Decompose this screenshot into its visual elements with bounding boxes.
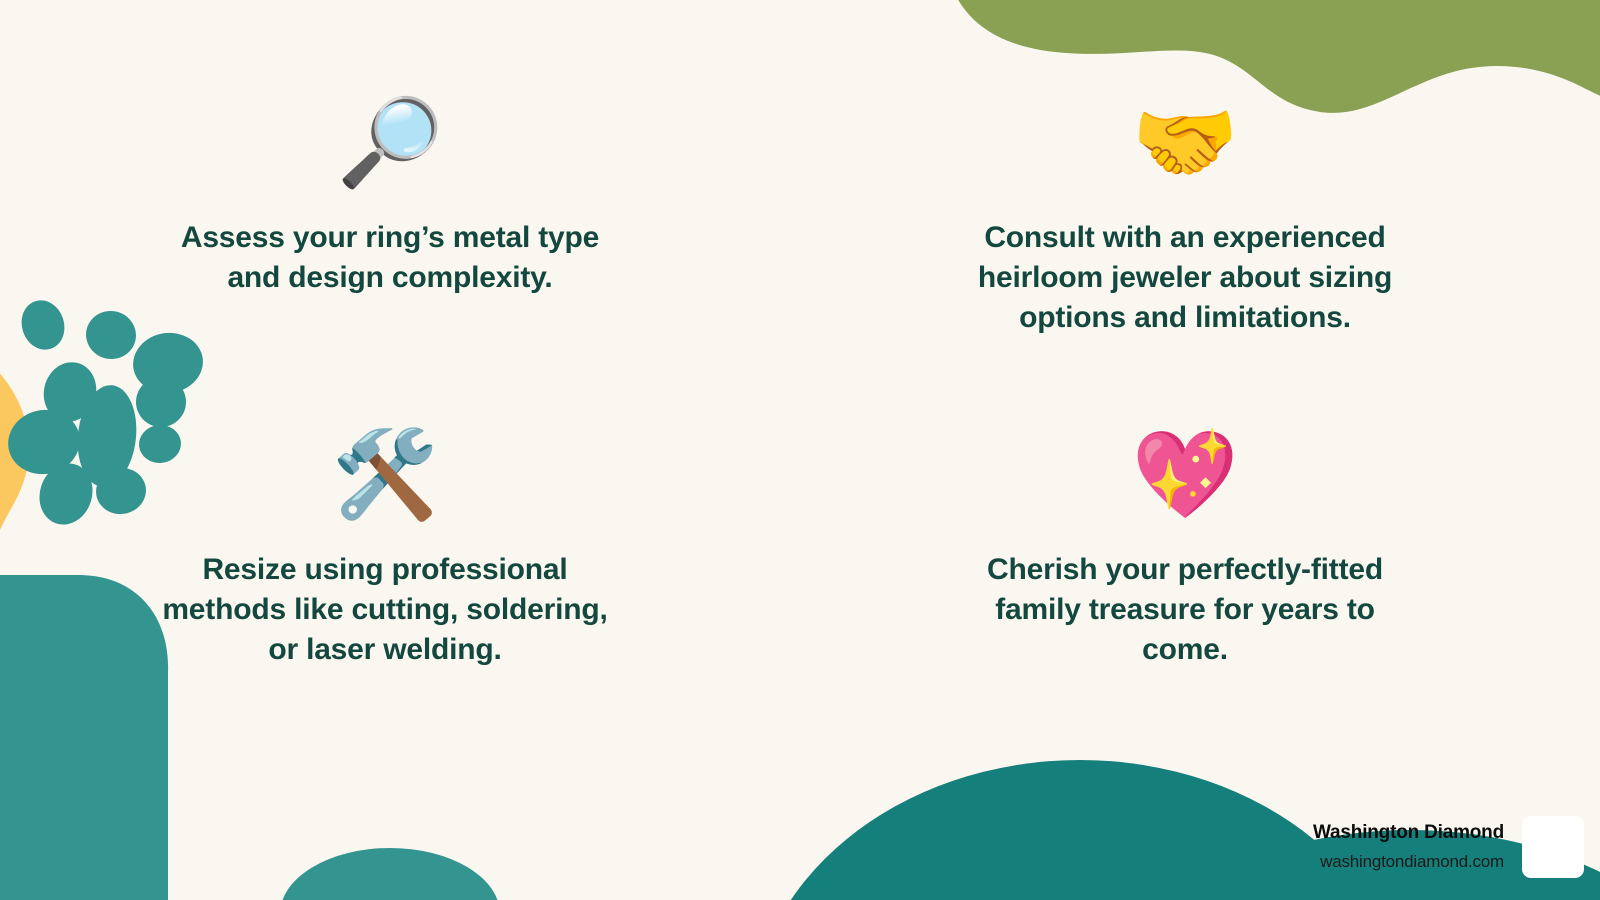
handshake-icon: 🤝 (950, 88, 1420, 198)
card-resize-text: Resize using professional methods like c… (150, 550, 620, 670)
brand-url[interactable]: washingtondiamond.com (1313, 848, 1504, 875)
card-assess-text: Assess your ring’s metal type and design… (155, 218, 625, 298)
brand-name: Washington Diamond (1313, 819, 1504, 848)
card-consult: 🤝 Consult with an experienced heirloom j… (950, 88, 1420, 338)
card-consult-text: Consult with an experienced heirloom jew… (950, 218, 1420, 338)
card-resize: 🛠️ Resize using professional methods lik… (150, 420, 620, 670)
sparkling-heart-icon: 💖 (950, 420, 1420, 530)
footer-text-block: Washington Diamond washingtondiamond.com (1313, 819, 1504, 875)
hammer-and-wrench-icon: 🛠️ (150, 420, 620, 530)
cards-grid: 🔎 Assess your ring’s metal type and desi… (0, 0, 1600, 900)
footer-branding: Washington Diamond washingtondiamond.com (1313, 816, 1584, 878)
card-cherish: 💖 Cherish your perfectly-fitted family t… (950, 420, 1420, 670)
infographic-canvas: 🔎 Assess your ring’s metal type and desi… (0, 0, 1600, 900)
card-cherish-text: Cherish your perfectly-fitted family tre… (950, 550, 1420, 670)
magnifying-glass-tilted-right-icon: 🔎 (155, 88, 625, 198)
card-assess: 🔎 Assess your ring’s metal type and desi… (155, 88, 625, 298)
brand-logo-icon (1522, 816, 1584, 878)
